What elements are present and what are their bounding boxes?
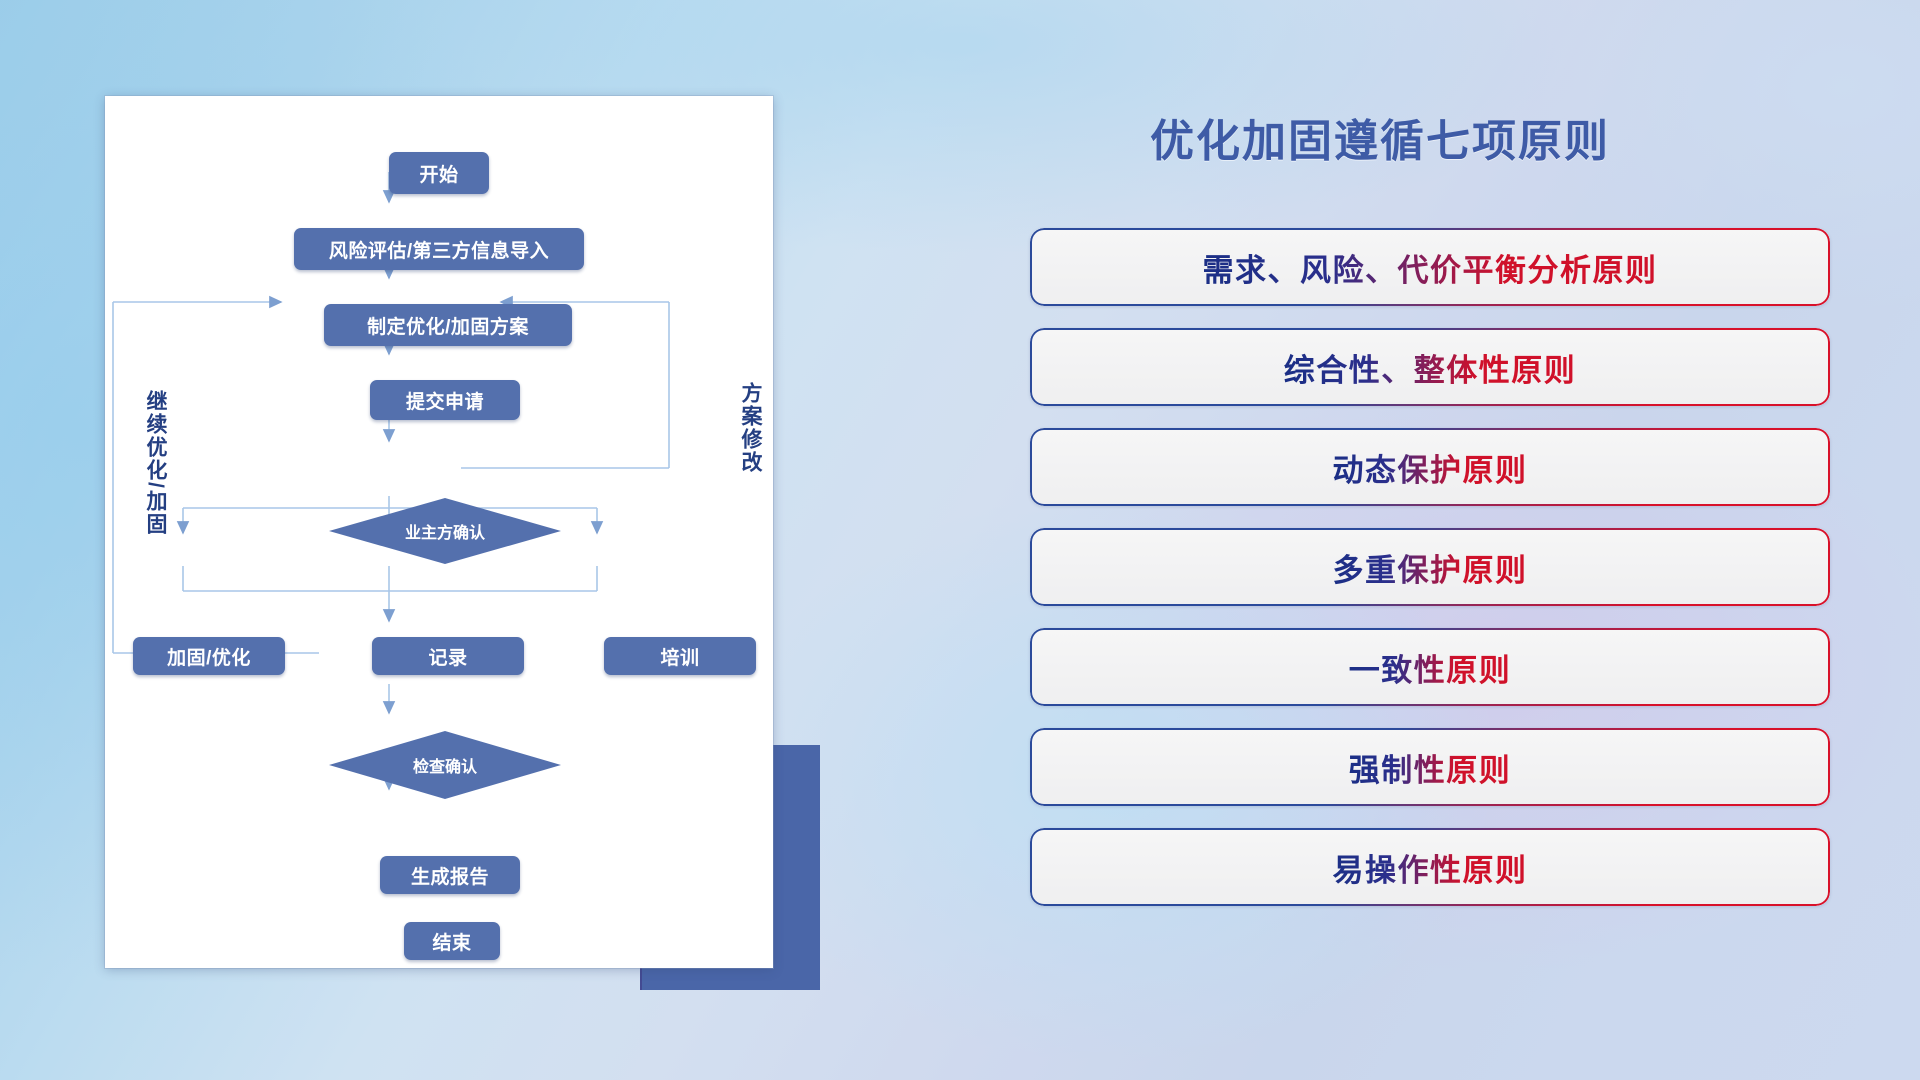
flow-node-reinforce[interactable]: 加固/优化 <box>133 637 285 675</box>
flow-edge-label-right-loop: 方案修改 <box>735 382 765 474</box>
principle-card-2[interactable]: 综合性、整体性原则 <box>1030 328 1830 406</box>
principle-label: 强制性原则 <box>1349 745 1512 790</box>
flow-node-end[interactable]: 结束 <box>404 922 500 960</box>
principles-list: 需求、风险、代价平衡分析原则 综合性、整体性原则 动态保护原则 多重保护原则 一… <box>1030 228 1830 928</box>
principle-label: 易操作性原则 <box>1333 845 1528 890</box>
principle-card-5[interactable]: 一致性原则 <box>1030 628 1830 706</box>
principle-card-6[interactable]: 强制性原则 <box>1030 728 1830 806</box>
flow-node-training[interactable]: 培训 <box>604 637 756 675</box>
principle-card-3[interactable]: 动态保护原则 <box>1030 428 1830 506</box>
flow-node-record[interactable]: 记录 <box>372 637 524 675</box>
principle-label: 多重保护原则 <box>1333 545 1528 590</box>
flowchart-panel: 开始 风险评估/第三方信息导入 制定优化/加固方案 提交申请 业主方确认 加固/… <box>0 0 860 1080</box>
flow-node-submit-application[interactable]: 提交申请 <box>370 380 520 420</box>
principle-label: 动态保护原则 <box>1333 445 1528 490</box>
flow-edge-label-left-loop: 继续优化/加固 <box>140 390 170 536</box>
principle-card-1[interactable]: 需求、风险、代价平衡分析原则 <box>1030 228 1830 306</box>
principle-label: 需求、风险、代价平衡分析原则 <box>1203 245 1658 290</box>
principle-label: 一致性原则 <box>1349 645 1512 690</box>
principle-card-4[interactable]: 多重保护原则 <box>1030 528 1830 606</box>
principles-panel: 优化加固遵循七项原则 需求、风险、代价平衡分析原则 综合性、整体性原则 动态保护… <box>1000 0 1920 1080</box>
principle-label: 综合性、整体性原则 <box>1284 345 1577 390</box>
principle-card-7[interactable]: 易操作性原则 <box>1030 828 1830 906</box>
flow-node-start[interactable]: 开始 <box>389 152 489 194</box>
flow-node-risk-assessment[interactable]: 风险评估/第三方信息导入 <box>294 228 584 270</box>
principles-title: 优化加固遵循七项原则 <box>1150 105 1610 169</box>
flow-node-plan[interactable]: 制定优化/加固方案 <box>324 304 572 346</box>
flow-node-generate-report[interactable]: 生成报告 <box>380 856 520 894</box>
